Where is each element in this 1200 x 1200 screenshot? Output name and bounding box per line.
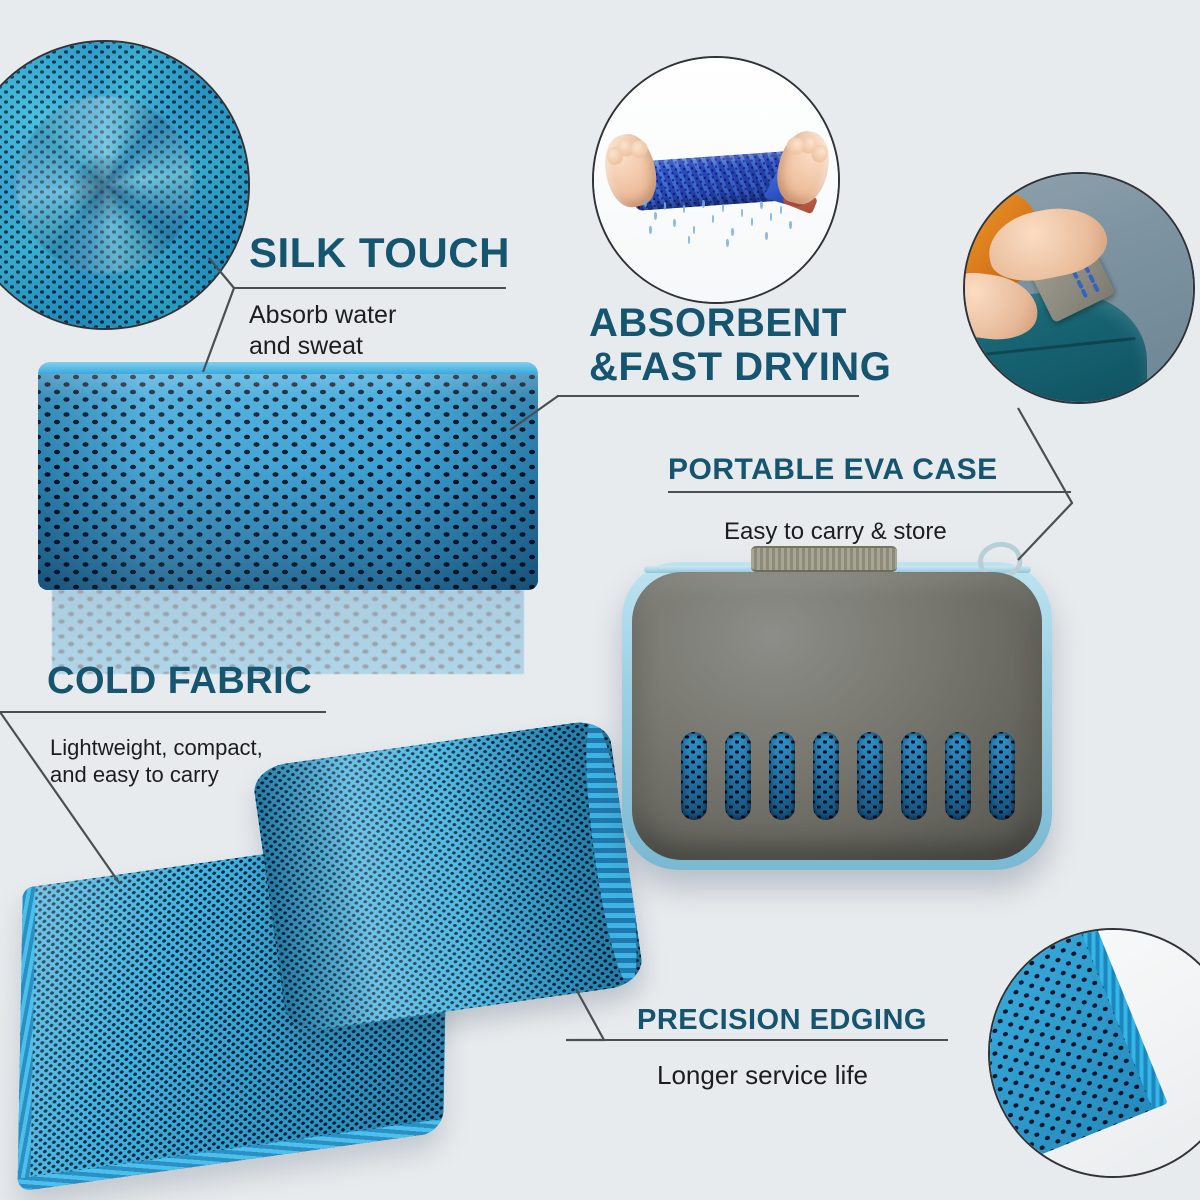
feature-absorbent: ABSORBENT &FAST DRYING — [589, 303, 891, 387]
feature-title-silk-touch: SILK TOUCH — [249, 232, 510, 274]
image-rolled-towel-cylinder — [251, 718, 645, 1033]
infographic-canvas: SILK TOUCH Absorb water and sweat ABSORB… — [0, 0, 1200, 1200]
image-folded-towel — [38, 362, 538, 590]
rule-silk-touch — [233, 287, 506, 289]
image-wringing-towel — [592, 56, 840, 304]
image-case-into-bag — [963, 172, 1195, 404]
image-swirl-fabric — [0, 40, 250, 330]
rule-absorbent — [557, 395, 859, 397]
image-edge-detail — [988, 928, 1200, 1178]
feature-title-absorbent-line1: ABSORBENT — [589, 303, 891, 343]
feature-subtitle-cold-fabric: Lightweight, compact, and easy to carry — [50, 735, 263, 789]
rule-cold-fabric — [0, 711, 326, 713]
connector-precision-edging — [566, 989, 604, 1040]
feature-eva-case: PORTABLE EVA CASE — [668, 455, 998, 485]
rule-precision-edging — [603, 1039, 948, 1041]
feature-title-precision-edging: PRECISION EDGING — [637, 1006, 927, 1035]
image-eva-case — [622, 562, 1052, 870]
feature-title-absorbent-line2: &FAST DRYING — [589, 347, 891, 387]
feature-subtitle-eva-case: Easy to carry & store — [724, 517, 947, 546]
connector-eva-case — [1018, 408, 1072, 560]
feature-subtitle-precision-edging: Longer service life — [657, 1060, 868, 1092]
feature-cold-fabric: COLD FABRIC — [47, 662, 312, 700]
feature-precision-edging: PRECISION EDGING — [637, 1006, 927, 1035]
rule-eva-case — [668, 491, 1071, 493]
case-vent-slots — [681, 732, 1015, 820]
feature-silk-touch: SILK TOUCH — [249, 232, 510, 274]
carry-strap — [751, 546, 897, 572]
feature-title-cold-fabric: COLD FABRIC — [47, 662, 312, 700]
water-droplets — [638, 195, 799, 249]
feature-subtitle-silk-touch: Absorb water and sweat — [249, 300, 396, 361]
feature-title-eva-case: PORTABLE EVA CASE — [668, 455, 998, 485]
